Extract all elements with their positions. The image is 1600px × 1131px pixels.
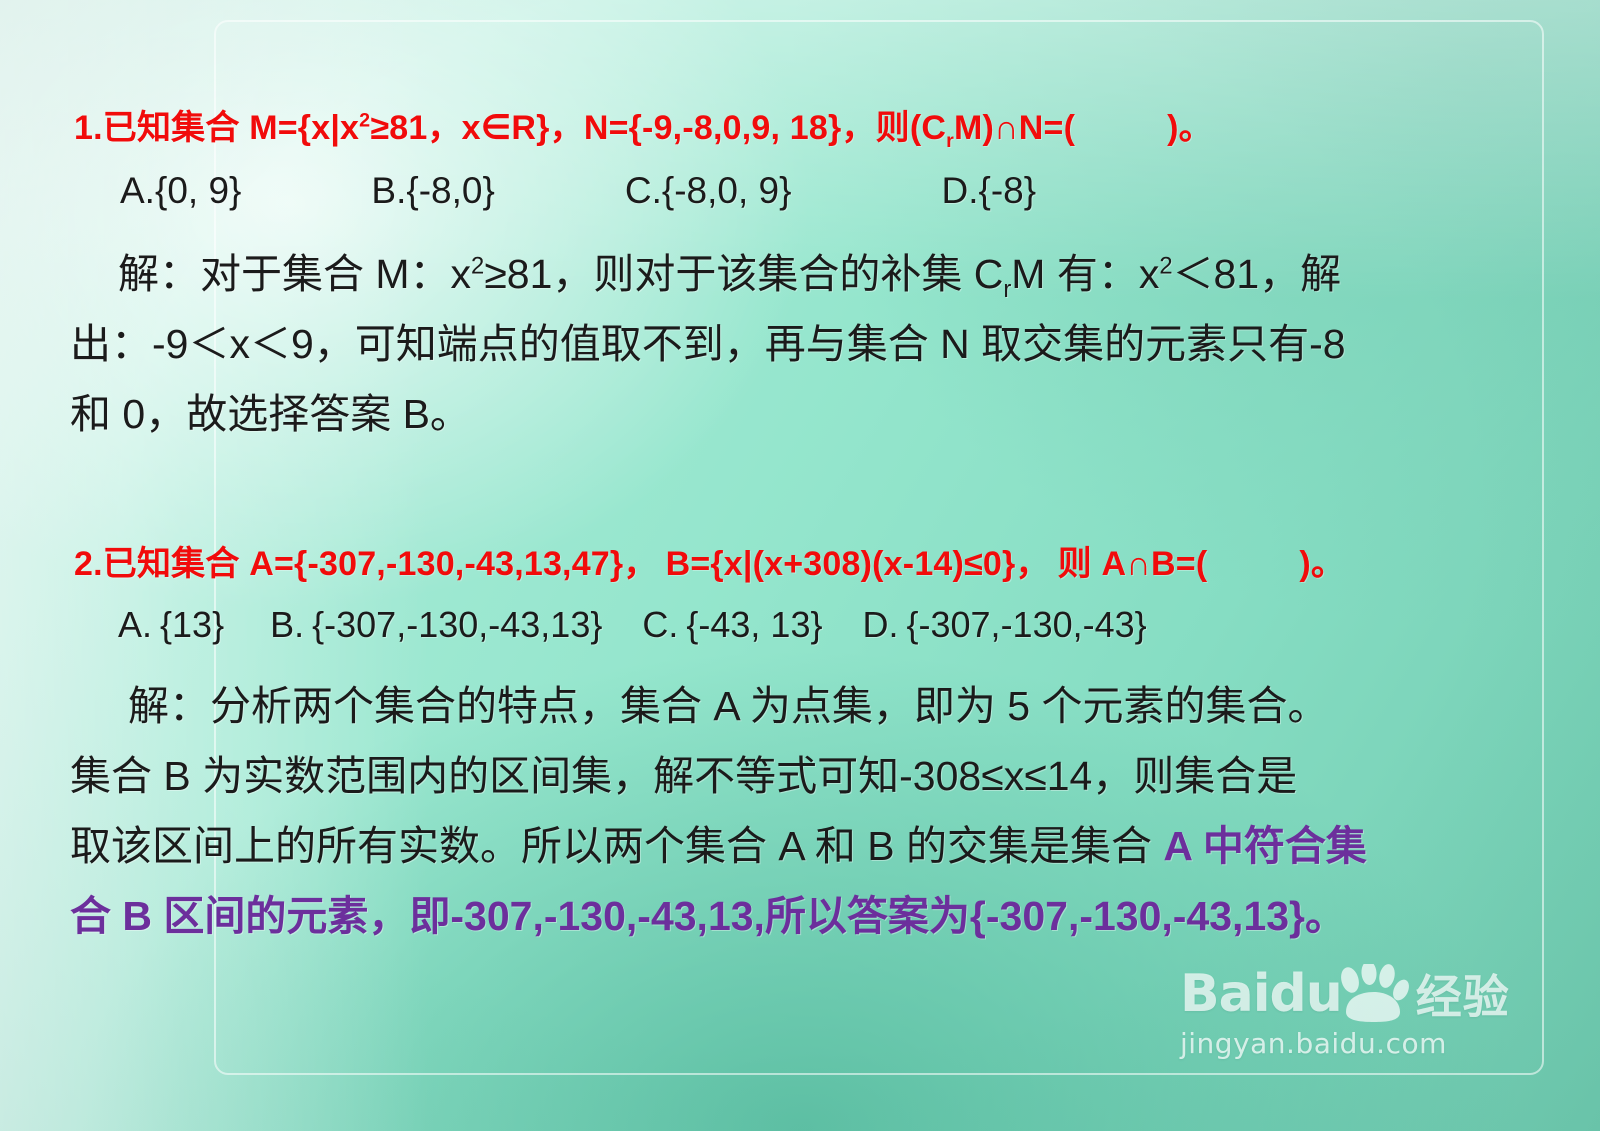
problem1-option-d-value[interactable]: {-8} (978, 170, 1036, 211)
problem2-option-a-value[interactable]: {13} (160, 604, 224, 645)
problem1-set-m-tail: ≥81，x∈R}， (370, 109, 583, 147)
problem2-options-row: A.{13}B.{-307,-130,-43,13}C.{-43, 13}D.{… (118, 604, 1147, 646)
problem2-solution-line-1: 解：分析两个集合的特点，集合 A 为点集，即为 5 个元素的集合。 (128, 672, 1328, 732)
p1-sol-seg-b: ≥81，则对于该集合的补集 C (484, 251, 1003, 297)
problem2-number: 2. (74, 545, 103, 583)
problem1-option-c-value[interactable]: {-8,0, 9} (662, 170, 792, 211)
p1-sol-exponent-1: 2 (471, 252, 484, 279)
problem1-solution-line-3: 和 0，故选择答案 B。 (70, 380, 471, 440)
problem2-option-a-key[interactable]: A. (118, 604, 152, 645)
problem1-option-d-key[interactable]: D. (941, 170, 978, 211)
problem2-option-d-key[interactable]: D. (862, 604, 898, 645)
p2-sol-line3-black: 取该区间上的所有实数。所以两个集合 A 和 B 的交集是集合 (70, 823, 1163, 869)
problem1-set-m-exponent: 2 (359, 110, 370, 132)
slide-canvas: 1.已知集合 M={x|x2≥81，x∈R}，N={-9,-8,0,9, 18}… (0, 0, 1600, 1131)
problem2-set-a: A={-307,-130,-43,13,47}， (249, 545, 657, 583)
p2-sol-line4-a: 合 B 区间的元素， (70, 893, 409, 939)
problem2-then-label: 则 A∩B=( (1058, 545, 1208, 583)
p1-sol-seg-a: 解：对于集合 M：x (118, 251, 471, 297)
problem2-option-c-key[interactable]: C. (642, 604, 678, 645)
problem1-option-b-key[interactable]: B. (371, 170, 406, 211)
problem2-solution-line-2: 集合 B 为实数范围内的区间集，解不等式可知-308≤x≤14，则集合是 (70, 742, 1297, 802)
problem2-set-b: B={x|(x+308)(x-14)≤0}， (666, 545, 1050, 583)
problem2-solution-line-4: 合 B 区间的元素，即-307,-130,-43,13,所以答案为{-307,-… (70, 882, 1346, 942)
problem1-set-m: M={x|x (249, 109, 359, 147)
problem2-blank-close: )。 (1299, 545, 1345, 583)
problem2-prefix: 已知集合 (103, 545, 249, 583)
problem2-solution-line-3: 取该区间上的所有实数。所以两个集合 A 和 B 的交集是集合 A 中符合集 (70, 812, 1367, 872)
baidu-watermark: Baidu 经验 jingyan.baidu.com (1180, 963, 1510, 1073)
paw-print-icon (1336, 964, 1410, 1024)
p2-sol-line3-purple: A 中符合集 (1163, 823, 1366, 869)
problem1-set-n: N={-9,-8,0,9, 18}， (584, 109, 876, 147)
problem2-option-b-value[interactable]: {-307,-130,-43,13} (312, 604, 602, 645)
problem1-then-label: 则(C (876, 109, 946, 147)
problem1-question-line: 1.已知集合 M={x|x2≥81，x∈R}，N={-9,-8,0,9, 18}… (74, 100, 1213, 149)
problem2-option-b-key[interactable]: B. (270, 604, 304, 645)
problem1-options-row: A.{0, 9}B.{-8,0}C.{-8,0, 9}D.{-8} (120, 170, 1036, 212)
baidu-watermark-url: jingyan.baidu.com (1180, 1027, 1510, 1060)
problem1-prefix: 已知集合 (103, 109, 249, 147)
p1-sol-exponent-2: 2 (1159, 252, 1172, 279)
problem1-complement-subscript: r (946, 130, 954, 152)
baidu-brand-cn-text: 经验 (1416, 961, 1510, 1027)
problem1-option-a-value[interactable]: {0, 9} (155, 170, 241, 211)
text-layer: 1.已知集合 M={x|x2≥81，x∈R}，N={-9,-8,0,9, 18}… (0, 0, 1600, 1131)
problem1-option-c-key[interactable]: C. (625, 170, 662, 211)
p1-sol-seg-c: M 有：x (1011, 251, 1159, 297)
p1-sol-seg-d: ＜81，解 (1173, 251, 1342, 297)
problem1-blank-close: )。 (1167, 109, 1213, 147)
p2-sol-line4-answer-values: 即-307,-130,-43,13, (409, 893, 765, 939)
p2-sol-line4-final-answer: 所以答案为{-307,-130,-43,13}。 (765, 893, 1346, 939)
baidu-logo: Baidu 经验 (1180, 963, 1510, 1025)
problem1-option-b-value[interactable]: {-8,0} (406, 170, 494, 211)
problem1-solution-line-1: 解：对于集合 M：x2≥81，则对于该集合的补集 CrM 有：x2＜81，解 (118, 240, 1341, 300)
problem1-option-a-key[interactable]: A. (120, 170, 155, 211)
problem2-option-c-value[interactable]: {-43, 13} (686, 604, 822, 645)
problem2-option-d-value[interactable]: {-307,-130,-43} (906, 604, 1146, 645)
problem2-question-line: 2.已知集合 A={-307,-130,-43,13,47}，B={x|(x+3… (74, 536, 1345, 585)
problem1-number: 1. (74, 109, 103, 147)
problem1-solution-line-2: 出：-9＜x＜9，可知端点的值取不到，再与集合 N 取交集的元素只有-8 (70, 310, 1346, 370)
problem1-then-tail: M)∩N=( (954, 109, 1075, 147)
baidu-brand-text: Baidu (1180, 964, 1342, 1024)
